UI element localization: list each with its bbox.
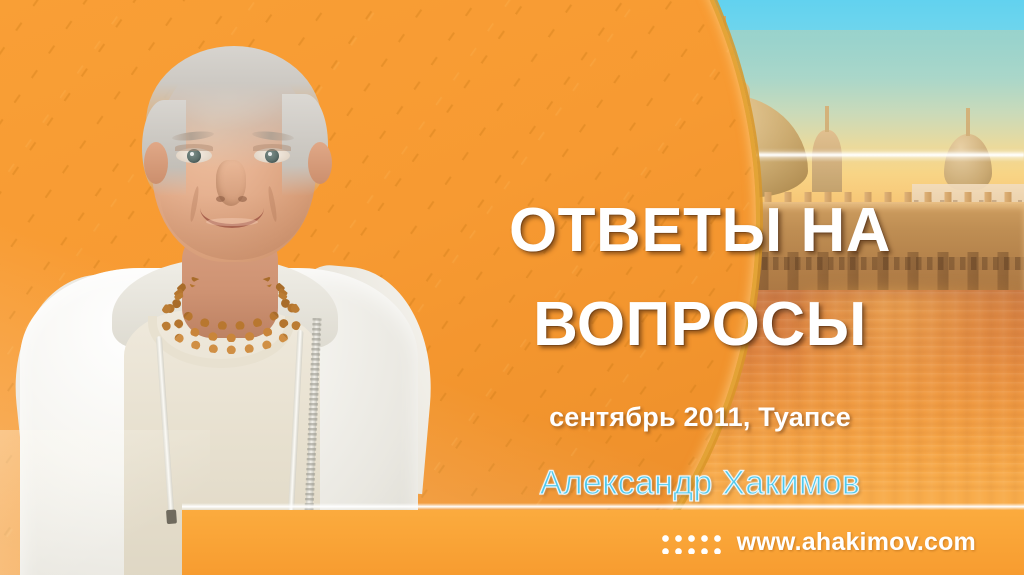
iris-right [265,149,279,163]
footer-separator-line [182,503,1024,510]
event-date-location: сентябрь 2011, Туапсе [440,402,960,433]
lip-highlight [206,218,258,226]
prayer-beads-outer [160,282,302,354]
iris-left [187,149,201,163]
speaker-name: Александр Хакимов [440,464,960,503]
page-title: ОТВЕТЫ НА ВОПРОСЫ [440,200,960,356]
title-line-2: ВОПРОСЫ [440,294,960,356]
eyelid-right [253,144,291,151]
website-url[interactable]: www.ahakimov.com [737,528,976,557]
nostril-left [216,196,225,202]
right-small-dome [944,134,992,190]
ear-right [308,142,332,184]
video-title-card: ОТВЕТЫ НА ВОПРОСЫ сентябрь 2011, Туапсе … [0,0,1024,575]
nostril-right [238,196,247,202]
ear-left [144,142,168,184]
speaker-portrait [20,18,440,575]
dot-grid-icon [659,532,721,554]
title-line-1: ОТВЕТЫ НА [440,200,960,262]
footer-bar: www.ahakimov.com [182,510,1024,575]
eyelid-left [175,144,213,151]
